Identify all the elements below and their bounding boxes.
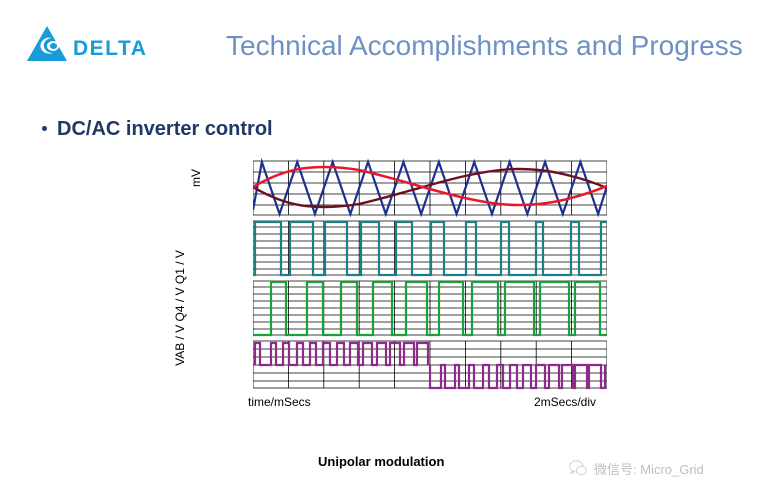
svg-text:34: 34 xyxy=(317,391,331,393)
watermark-text: 微信号: Micro_Grid xyxy=(594,459,704,478)
x-axis-label-left: time/mSecs xyxy=(248,395,311,409)
bullet-row: DC/AC inverter control xyxy=(42,118,273,141)
watermark: 微信号: Micro_Grid xyxy=(568,458,704,478)
svg-text:32: 32 xyxy=(281,391,295,393)
bullet-dot-icon xyxy=(42,126,47,131)
svg-text:40: 40 xyxy=(423,391,437,393)
figure-caption: Unipolar modulation xyxy=(318,454,444,469)
plot-area: 600 -0 -600 2 0 2 0 100 -200 30 32 34 36… xyxy=(253,158,607,373)
bullet-text: DC/AC inverter control xyxy=(57,118,273,141)
svg-text:30: 30 xyxy=(253,391,260,393)
svg-text:38: 38 xyxy=(387,391,401,393)
waveform-figure: VAB / V Q4 / V Q1 / V mV xyxy=(186,158,626,488)
delta-logo-text: DELTA xyxy=(73,37,147,60)
waveform-svg: 600 -0 -600 2 0 2 0 100 -200 30 32 34 36… xyxy=(253,158,607,393)
svg-text:36: 36 xyxy=(352,391,366,393)
delta-logo: DELTA xyxy=(25,24,157,64)
svg-text:46: 46 xyxy=(529,391,543,393)
svg-text:48: 48 xyxy=(564,391,578,393)
panel-vab xyxy=(253,341,607,388)
x-tick-labels: 30 32 34 36 38 40 42 44 46 48 50 xyxy=(253,391,607,393)
panel-q1 xyxy=(253,221,607,275)
y-axis-unit-mv: mV xyxy=(189,169,203,187)
svg-text:44: 44 xyxy=(494,391,508,393)
wechat-icon xyxy=(568,458,588,478)
svg-text:42: 42 xyxy=(458,391,472,393)
x-axis-label-right: 2mSecs/div xyxy=(534,395,596,409)
panel-q4 xyxy=(253,281,607,335)
slide-header: DELTA Technical Accomplishments and Prog… xyxy=(0,0,784,92)
panel-carrier xyxy=(253,161,607,215)
page-title: Technical Accomplishments and Progress xyxy=(226,30,771,62)
y-axis-title: VAB / V Q4 / V Q1 / V xyxy=(173,201,187,416)
svg-text:50: 50 xyxy=(600,391,607,393)
